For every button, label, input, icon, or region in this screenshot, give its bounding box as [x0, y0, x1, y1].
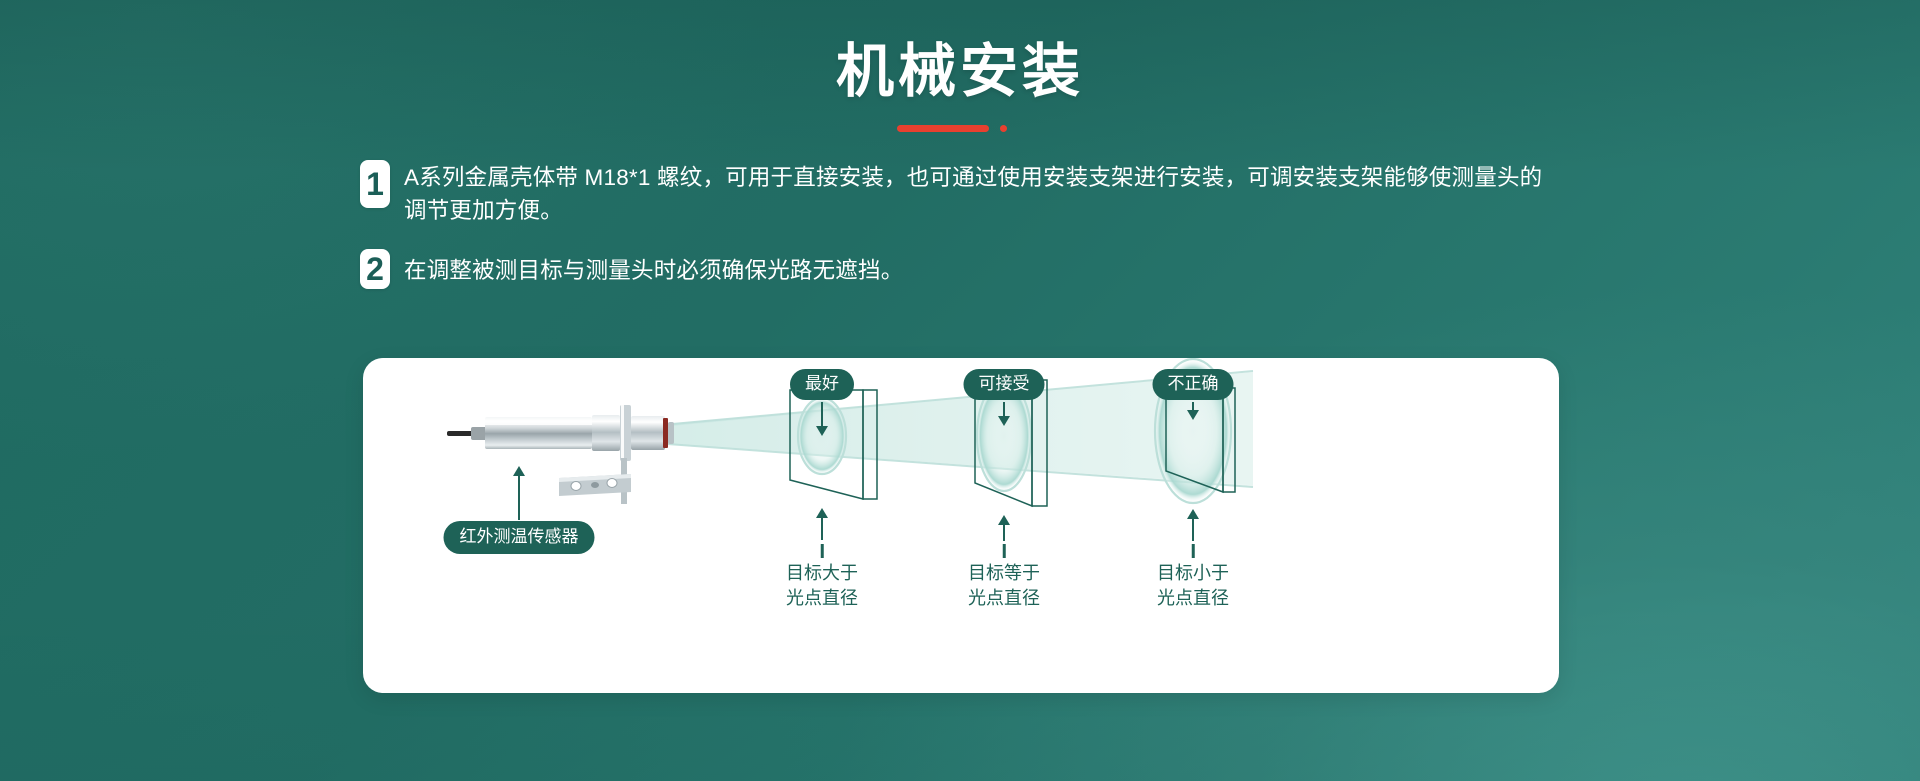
caption-line: 光点直径 [786, 586, 858, 611]
list-item-number-badge: 2 [360, 249, 390, 289]
caption-target-smaller: 目标小于 光点直径 [1157, 561, 1229, 611]
divider-bar [897, 125, 989, 132]
pill-incorrect: 不正确 [1153, 369, 1234, 400]
pill-acceptable: 可接受 [964, 369, 1045, 400]
page-title: 机械安装 [0, 40, 1920, 104]
page-root: 机械安装 1 A系列金属壳体带 M18*1 螺纹，可用于直接安装，也可通过使用安… [0, 0, 1920, 781]
arrow-up-icon [816, 508, 828, 540]
list-item-text: 在调整被测目标与测量头时必须确保光路无遮挡。 [404, 249, 903, 287]
arrow-down-icon [816, 402, 828, 436]
arrow-up-icon [998, 515, 1010, 541]
arrow-up-icon-sensor [513, 466, 525, 520]
pill-best: 最好 [790, 369, 854, 400]
sensor-illustration [447, 405, 674, 504]
sensor-label: 红外测温传感器 [444, 521, 595, 554]
caption-line: 目标等于 [968, 561, 1040, 586]
list-item-number-badge: 1 [360, 160, 390, 208]
arrow-down-icon [1187, 402, 1199, 420]
caption-tick [821, 544, 824, 558]
caption-target-equal: 目标等于 光点直径 [968, 561, 1040, 611]
page-header: 机械安装 [0, 40, 1920, 135]
list-item-text: A系列金属壳体带 M18*1 螺纹，可用于直接安装，也可通过使用安装支架进行安装… [404, 160, 1565, 227]
caption-line: 光点直径 [968, 586, 1040, 611]
instruction-list: 1 A系列金属壳体带 M18*1 螺纹，可用于直接安装，也可通过使用安装支架进行… [360, 160, 1565, 307]
list-item: 1 A系列金属壳体带 M18*1 螺纹，可用于直接安装，也可通过使用安装支架进行… [360, 160, 1565, 227]
caption-tick [1192, 544, 1195, 558]
diagram-card: 最好 可接受 不正确 目标大于 光点直径 [363, 358, 1559, 693]
list-item: 2 在调整被测目标与测量头时必须确保光路无遮挡。 [360, 249, 1565, 289]
divider-dot [1000, 125, 1007, 132]
caption-line: 目标小于 [1157, 561, 1229, 586]
caption-line: 光点直径 [1157, 586, 1229, 611]
caption-target-larger: 目标大于 光点直径 [786, 561, 858, 611]
caption-line: 目标大于 [786, 561, 858, 586]
arrow-up-icon [1187, 509, 1199, 541]
title-divider [897, 122, 1023, 135]
caption-tick [1003, 544, 1006, 558]
arrow-down-icon [998, 402, 1010, 426]
